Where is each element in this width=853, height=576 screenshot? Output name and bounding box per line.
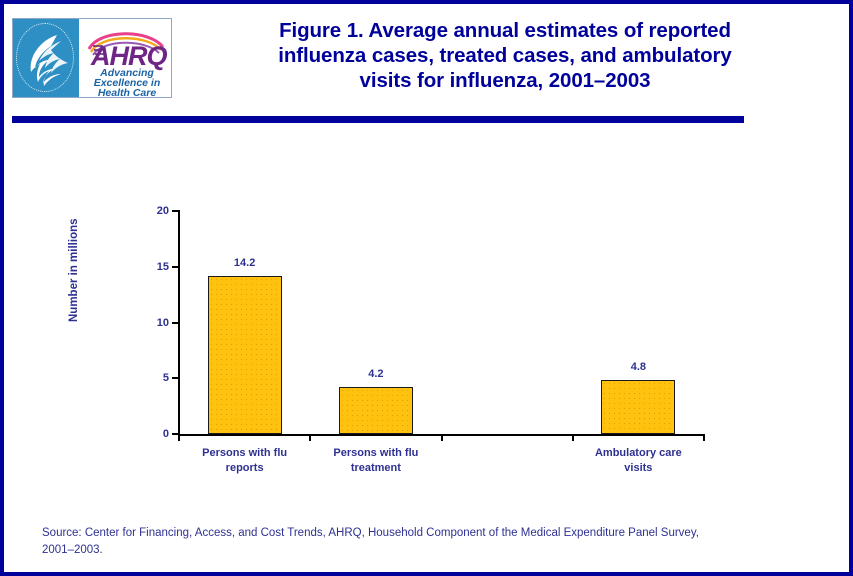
x-axis-label-line: Persons with flu xyxy=(202,446,287,461)
y-axis-tick xyxy=(172,322,179,324)
x-axis-label-line: Persons with flu xyxy=(333,446,418,461)
x-axis-category-label: Persons with flureports xyxy=(202,446,287,476)
x-axis-label-line: visits xyxy=(595,461,682,476)
figure-header: AHRQ Advancing Excellence in Health Care xyxy=(4,4,849,114)
header-divider xyxy=(12,116,744,123)
y-axis-tick xyxy=(172,377,179,379)
plot-area: 0510152014.2Persons with flureports4.2Pe… xyxy=(179,211,704,434)
y-axis-tick-label: 10 xyxy=(157,317,169,329)
figure-page: AHRQ Advancing Excellence in Health Care xyxy=(0,0,853,576)
x-axis-tick xyxy=(309,434,311,441)
page-title-line-1: Figure 1. Average annual estimates of re… xyxy=(180,18,830,43)
x-axis-tick xyxy=(703,434,705,441)
x-axis-category-label: Persons with flutreatment xyxy=(333,446,418,476)
y-axis-tick-label: 20 xyxy=(157,205,169,217)
bar xyxy=(339,387,413,434)
y-axis-tick-label: 0 xyxy=(163,428,169,440)
page-title: Figure 1. Average annual estimates of re… xyxy=(180,18,830,93)
x-axis-label-line: Ambulatory care xyxy=(595,446,682,461)
y-axis-title: Number in millions xyxy=(68,218,80,322)
x-axis-tick xyxy=(178,434,180,441)
ahrq-hhs-logo: AHRQ Advancing Excellence in Health Care xyxy=(12,18,172,98)
bar-value-label: 4.8 xyxy=(631,361,646,373)
y-axis-tick xyxy=(172,266,179,268)
y-axis-tick-label: 15 xyxy=(157,261,169,273)
bar xyxy=(601,380,675,434)
bar xyxy=(208,276,282,434)
hhs-eagle-seal-icon xyxy=(13,19,79,97)
x-axis-tick xyxy=(441,434,443,441)
x-axis-category-label: Ambulatory carevisits xyxy=(595,446,682,476)
source-line-1: Source: Center for Financing, Access, an… xyxy=(42,525,817,542)
page-title-line-3: visits for influenza, 2001–2003 xyxy=(180,68,830,93)
x-axis-label-line: reports xyxy=(202,461,287,476)
ahrq-wordmark: AHRQ Advancing Excellence in Health Care xyxy=(79,19,171,97)
y-axis-tick-label: 5 xyxy=(163,372,169,384)
bar-chart: Number in millions 0510152014.2Persons w… xyxy=(4,124,849,514)
source-line-2: 2001–2003. xyxy=(42,542,817,559)
x-axis-label-line: treatment xyxy=(333,461,418,476)
x-axis-tick xyxy=(572,434,574,441)
bar-value-label: 4.2 xyxy=(368,368,383,380)
page-title-line-2: influenza cases, treated cases, and ambu… xyxy=(180,43,830,68)
source-note: Source: Center for Financing, Access, an… xyxy=(42,525,817,559)
bar-value-label: 14.2 xyxy=(234,257,255,269)
svg-text:Health Care: Health Care xyxy=(98,87,157,97)
y-axis-tick xyxy=(172,210,179,212)
